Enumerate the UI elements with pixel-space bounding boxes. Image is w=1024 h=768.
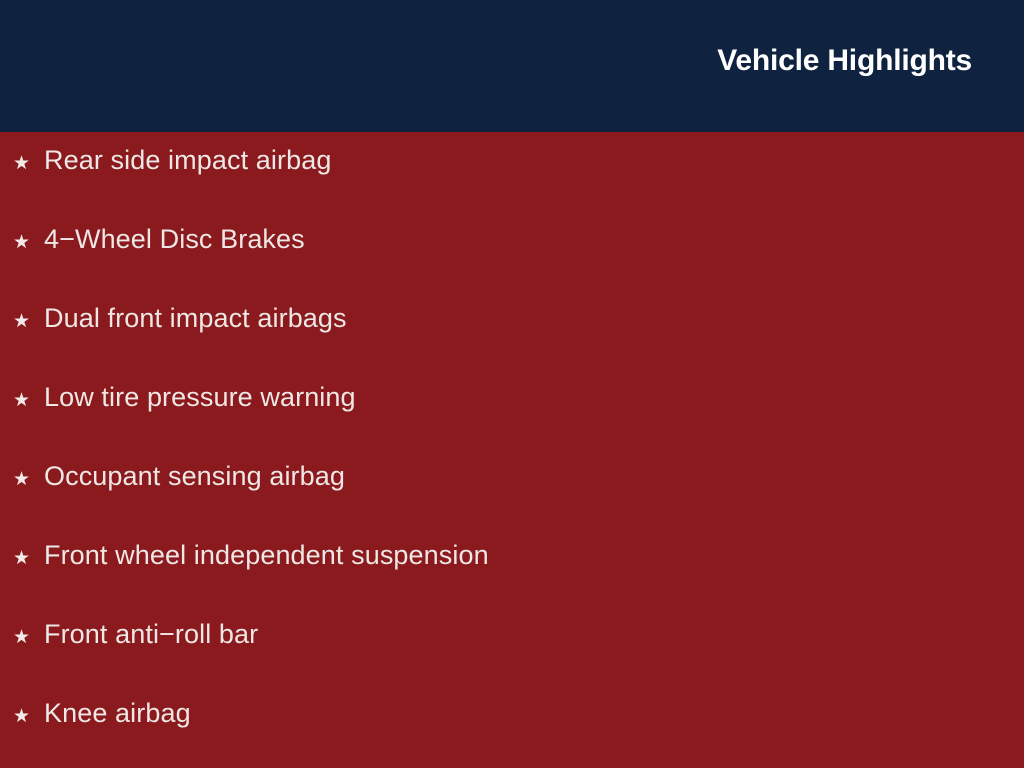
list-item: ★ Dual front impact airbags xyxy=(0,290,1024,369)
star-icon: ★ xyxy=(13,154,31,173)
page-title: Vehicle Highlights xyxy=(717,44,972,78)
list-item-label: Front wheel independent suspension xyxy=(44,539,489,571)
star-icon: ★ xyxy=(13,707,31,726)
list-item-label: Knee airbag xyxy=(44,697,191,729)
star-icon: ★ xyxy=(13,470,31,489)
list-item-label: 4−Wheel Disc Brakes xyxy=(44,223,305,255)
vehicle-highlights-slide: Vehicle Highlights ★ Rear side impact ai… xyxy=(0,0,1024,768)
list-item: ★ Rear side impact airbag xyxy=(0,132,1024,211)
list-item: ★ 4−Wheel Disc Brakes xyxy=(0,211,1024,290)
list-item-label: Occupant sensing airbag xyxy=(44,460,345,492)
list-item-label: Rear side impact airbag xyxy=(44,144,331,176)
list-item: ★ Front wheel independent suspension xyxy=(0,527,1024,606)
star-icon: ★ xyxy=(13,312,31,331)
highlights-panel: ★ Rear side impact airbag ★ 4−Wheel Disc… xyxy=(0,132,1024,768)
list-item-label: Front anti−roll bar xyxy=(44,618,258,650)
vehicle-highlights-list: ★ Rear side impact airbag ★ 4−Wheel Disc… xyxy=(0,132,1024,764)
list-item-label: Dual front impact airbags xyxy=(44,302,347,334)
list-item: ★ Low tire pressure warning xyxy=(0,369,1024,448)
list-item: ★ Occupant sensing airbag xyxy=(0,448,1024,527)
star-icon: ★ xyxy=(13,233,31,252)
slide-header-band: Vehicle Highlights xyxy=(0,0,1024,132)
list-item-label: Low tire pressure warning xyxy=(44,381,356,413)
star-icon: ★ xyxy=(13,628,31,647)
list-item: ★ Knee airbag xyxy=(0,685,1024,764)
list-item: ★ Front anti−roll bar xyxy=(0,606,1024,685)
star-icon: ★ xyxy=(13,391,31,410)
star-icon: ★ xyxy=(13,549,31,568)
